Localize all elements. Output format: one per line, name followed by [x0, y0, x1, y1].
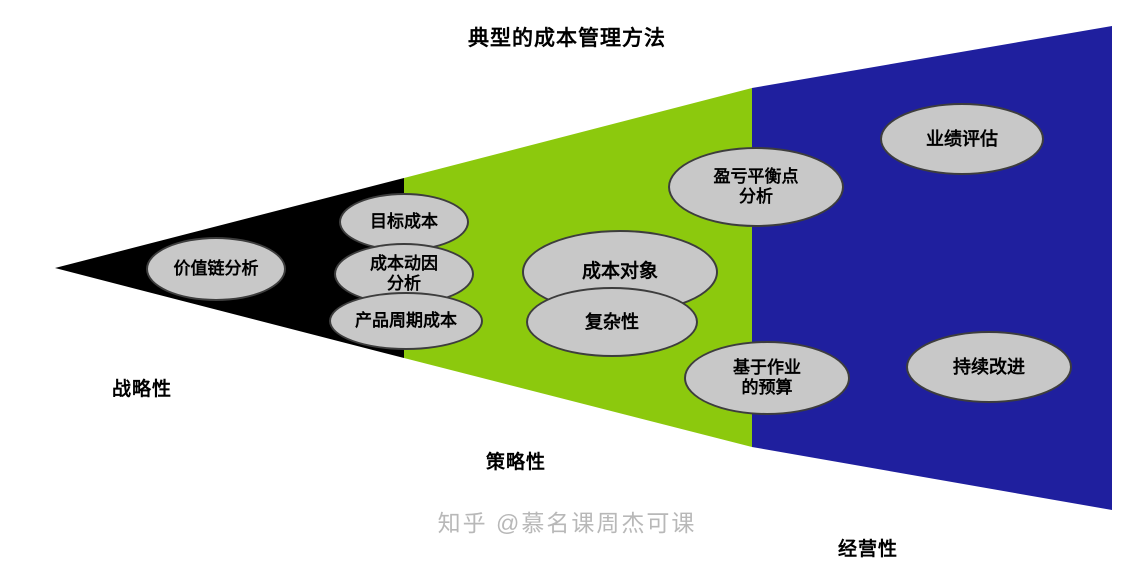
node-ellipse: 基于作业 的预算 [684, 341, 850, 415]
node-ellipse: 价值链分析 [146, 237, 286, 301]
diagram-canvas: 典型的成本管理方法 价值链分析 目标成本 成本动因 分析 产品周期成本 成本对象… [0, 0, 1134, 574]
stage-label-tactical: 策略性 [486, 447, 546, 474]
stage-label-strategic: 战略性 [112, 374, 172, 401]
node-ellipse: 持续改进 [906, 331, 1072, 403]
node-ellipse: 盈亏平衡点 分析 [668, 147, 844, 227]
stage-label-operational: 经营性 [838, 534, 898, 561]
node-ellipse: 复杂性 [526, 287, 698, 357]
band-operational [752, 26, 1112, 510]
node-ellipse: 产品周期成本 [329, 292, 483, 350]
node-ellipse: 业绩评估 [880, 103, 1044, 175]
watermark: 知乎 @慕名课周杰可课 [0, 504, 1134, 538]
